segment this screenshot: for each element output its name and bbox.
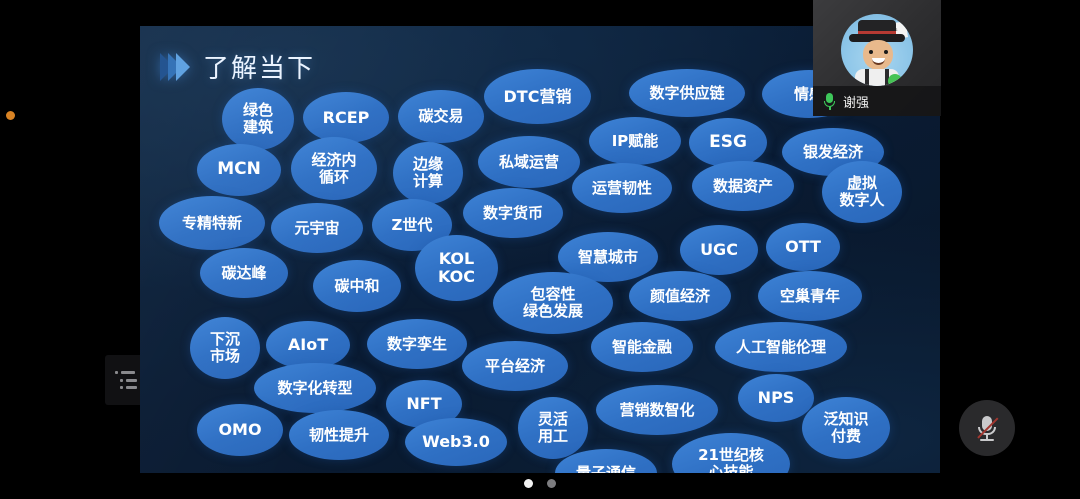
keyword-bubble: MCN (197, 144, 281, 196)
avatar: PRESS (841, 14, 913, 86)
keyword-bubble: 数字货币 (463, 188, 563, 238)
keyword-bubble: 元宇宙 (271, 203, 363, 253)
slide-title-block: 了解当下 (160, 48, 315, 85)
keyword-bubble: 运营韧性 (572, 163, 672, 213)
keyword-bubble: 泛知识 付费 (802, 397, 890, 459)
keyword-bubble: Web3.0 (405, 418, 507, 466)
keyword-bubble: 专精特新 (159, 196, 265, 250)
keyword-bubble: 智能金融 (591, 322, 693, 372)
pagination-dot-1[interactable] (524, 479, 533, 488)
keyword-bubble: 数字供应链 (629, 69, 745, 117)
keyword-bubble: KOL KOC (415, 235, 498, 301)
keyword-bubble: 数据资产 (692, 161, 794, 211)
keyword-bubble: 私域运营 (478, 136, 580, 188)
keyword-bubble: ESG (689, 118, 767, 167)
keyword-bubble: 虚拟 数字人 (822, 161, 902, 223)
keyword-bubble: 人工智能伦理 (715, 322, 847, 372)
participant-name: 谢强 (843, 92, 869, 111)
keyword-bubble: 数字化转型 (254, 363, 376, 413)
slide-title: 了解当下 (203, 48, 315, 85)
keyword-bubble: 灵活 用工 (518, 397, 588, 459)
recording-indicator-dot (6, 111, 15, 120)
keyword-bubble: 韧性提升 (289, 410, 389, 460)
keyword-bubble: DTC营销 (484, 69, 591, 124)
keyword-bubble: 营销数智化 (596, 385, 718, 435)
keyword-bubble: 颜值经济 (629, 271, 731, 321)
double-chevron-right-icon (160, 53, 190, 81)
keyword-bubble: UGC (680, 225, 758, 275)
pagination-dot-2[interactable] (547, 479, 556, 488)
keyword-bubble: 空巢青年 (758, 271, 862, 321)
screen: 了解当下 绿色 建筑RCEP碳交易DTC营销数字供应链情感MCN经济内 循环边缘… (0, 0, 1080, 499)
keyword-bubble: 碳达峰 (200, 248, 288, 298)
mute-toggle-button[interactable] (959, 400, 1015, 456)
keyword-bubble: 绿色 建筑 (222, 88, 294, 150)
slide-pagination[interactable] (0, 479, 1080, 488)
keyword-bubble: 边缘 计算 (393, 142, 463, 204)
keyword-bubble: IP赋能 (589, 117, 681, 165)
keyword-bubble: OTT (766, 223, 840, 271)
microphone-muted-icon (976, 414, 998, 442)
keyword-bubble: 包容性 绿色发展 (493, 272, 613, 334)
keyword-bubble: OMO (197, 404, 283, 456)
keyword-bubble: RCEP (303, 92, 389, 143)
keyword-bubble: 碳中和 (313, 260, 401, 312)
keyword-bubble: 经济内 循环 (291, 137, 377, 200)
keyword-bubble: 下沉 市场 (190, 317, 260, 379)
list-menu-icon (115, 371, 137, 389)
participant-name-bar: 谢强 (813, 86, 941, 116)
participant-video-tile[interactable]: PRESS 谢强 (813, 0, 941, 116)
keyword-bubble: 数字孪生 (367, 319, 467, 369)
keyword-bubble: NPS (738, 374, 814, 422)
keyword-bubble: AIoT (266, 321, 350, 369)
keyword-bubble: 碳交易 (398, 90, 484, 143)
keyword-bubble: 平台经济 (462, 341, 568, 391)
microphone-on-icon (823, 93, 836, 110)
keyword-bubble: 21世纪核 心技能 (672, 433, 790, 473)
